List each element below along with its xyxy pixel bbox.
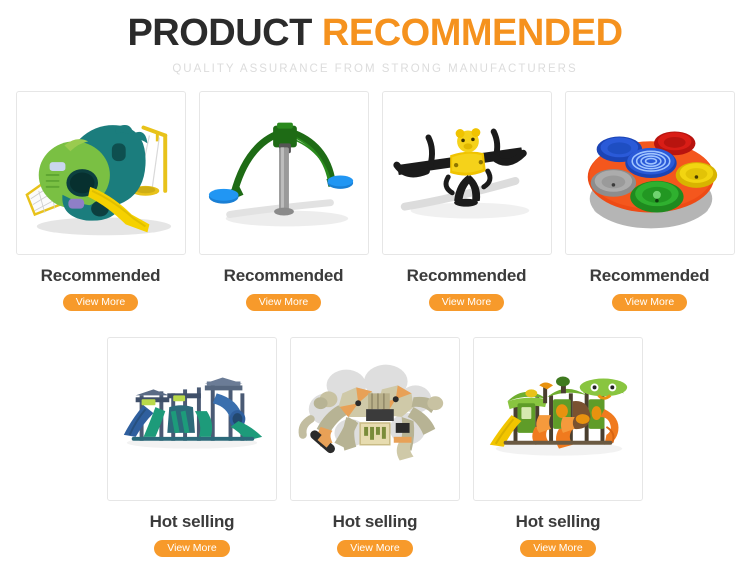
green-arch-spinner-blue-platforms-icon — [200, 92, 368, 254]
product-thumbnail[interactable] — [199, 91, 369, 255]
product-card[interactable]: Hot selling View More — [473, 337, 643, 557]
product-label: Hot selling — [333, 512, 418, 532]
view-more-button[interactable]: View More — [429, 294, 504, 311]
product-label: Recommended — [224, 266, 344, 286]
beige-orange-playground-topview-icon — [291, 338, 459, 500]
black-seesaw-yellow-bear-icon — [383, 92, 551, 254]
product-thumbnail[interactable] — [16, 91, 186, 255]
page-header: PRODUCT RECOMMENDED QUALITY ASSURANCE FR… — [0, 0, 750, 75]
product-label: Hot selling — [150, 512, 235, 532]
view-more-button[interactable]: View More — [520, 540, 595, 557]
view-more-button[interactable]: View More — [337, 540, 412, 557]
product-card[interactable]: Recommended View More — [565, 91, 735, 311]
product-label: Hot selling — [516, 512, 601, 532]
product-thumbnail[interactable] — [107, 337, 277, 501]
page-title-accent: RECOMMENDED — [322, 12, 623, 54]
view-more-button[interactable]: View More — [246, 294, 321, 311]
green-orange-playground-canopy-slides-icon — [474, 338, 642, 500]
product-card[interactable]: Recommended View More — [382, 91, 552, 311]
page-subtitle: QUALITY ASSURANCE FROM STRONG MANUFACTUR… — [0, 63, 750, 75]
product-label: Recommended — [590, 266, 710, 286]
product-thumbnail[interactable] — [382, 91, 552, 255]
page-title-primary: PRODUCT — [127, 12, 311, 54]
product-thumbnail[interactable] — [473, 337, 643, 501]
product-label: Recommended — [407, 266, 527, 286]
product-card[interactable]: Recommended View More — [16, 91, 186, 311]
view-more-button[interactable]: View More — [63, 294, 138, 311]
view-more-button[interactable]: View More — [612, 294, 687, 311]
product-thumbnail[interactable] — [565, 91, 735, 255]
green-cat-playhouse-slide-swing-icon — [17, 92, 185, 254]
hot-selling-row: Hot selling View More — [0, 337, 750, 557]
product-card[interactable]: Recommended View More — [199, 91, 369, 311]
product-recommended-page: PRODUCT RECOMMENDED QUALITY ASSURANCE FR… — [0, 0, 750, 585]
blue-teal-playground-structure-icon — [108, 338, 276, 500]
page-title: PRODUCT RECOMMENDED — [0, 14, 750, 54]
recommended-row: Recommended View More — [0, 91, 750, 311]
product-card[interactable]: Hot selling View More — [290, 337, 460, 557]
view-more-button[interactable]: View More — [154, 540, 229, 557]
product-label: Recommended — [41, 266, 161, 286]
orange-round-spinner-colored-bowls-icon — [566, 92, 734, 254]
product-thumbnail[interactable] — [290, 337, 460, 501]
product-card[interactable]: Hot selling View More — [107, 337, 277, 557]
